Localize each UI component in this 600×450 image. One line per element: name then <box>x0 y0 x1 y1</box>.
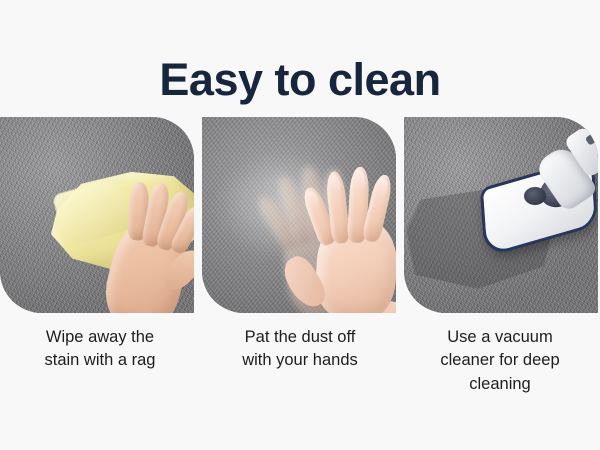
vacuum-swivel-joint-secondary <box>524 187 546 205</box>
caption-line: Pat the dust off <box>210 326 390 349</box>
page-title: Easy to clean <box>0 56 600 103</box>
caption-line: cleaning <box>410 373 590 396</box>
caption-line: Wipe away the <box>10 326 190 349</box>
panel-wipe-stain <box>0 117 194 313</box>
panel-pat-dust <box>202 117 396 313</box>
patting-hand <box>293 163 396 313</box>
panel-vacuum-clean <box>404 117 598 313</box>
caption-pat-dust: Pat the dust off with your hands <box>200 326 400 396</box>
caption-row: Wipe away the stain with a rag Pat the d… <box>0 326 600 396</box>
fingernail <box>329 175 341 195</box>
fingernail <box>354 171 366 191</box>
caption-line: with your hands <box>210 349 390 372</box>
fingernail <box>305 190 320 208</box>
fingernail <box>376 178 390 197</box>
caption-line: cleaner for deep <box>410 349 590 372</box>
product-feature-card: Easy to clean <box>0 0 600 450</box>
caption-line: Use a vacuum <box>410 326 590 349</box>
vacuum-cleaner <box>480 135 598 255</box>
caption-line: stain with a rag <box>10 349 190 372</box>
image-panel-strip <box>0 117 600 313</box>
caption-vacuum-clean: Use a vacuum cleaner for deep cleaning <box>400 326 600 396</box>
caption-wipe-stain: Wipe away the stain with a rag <box>0 326 200 396</box>
